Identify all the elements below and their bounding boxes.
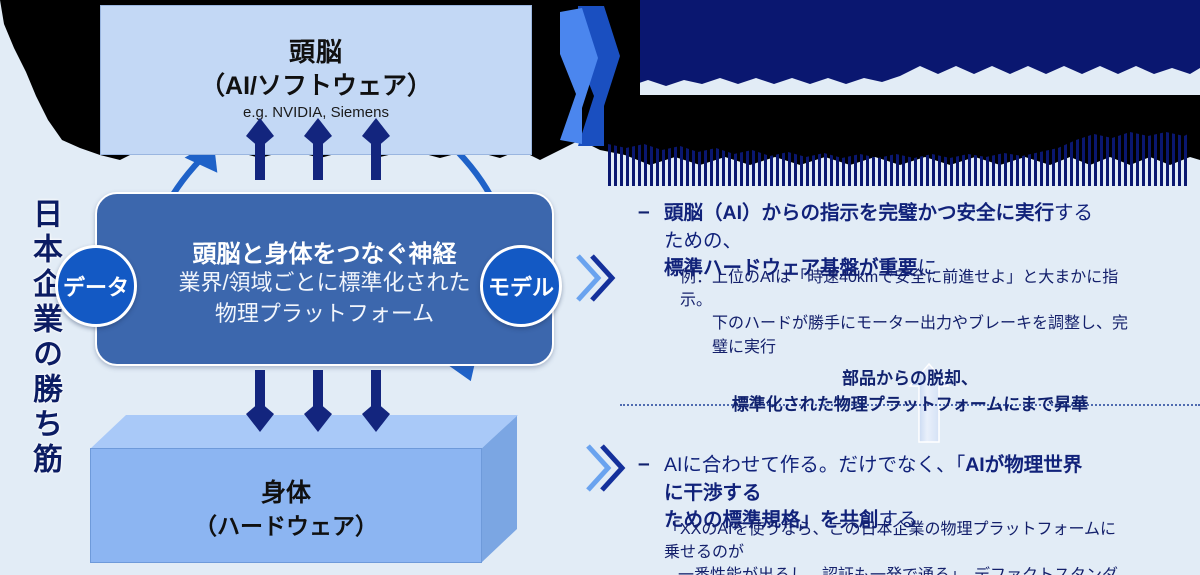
bullet-1-sub-line2: 下のハードが勝手にモーター出力やブレーキを調整し、完璧に実行	[680, 312, 1130, 358]
block-arrow-down-2	[304, 370, 332, 432]
bottom-box-subtitle: （ハードウェア）	[91, 507, 481, 541]
top-box-subtitle: （AI/ソフトウェア）	[101, 66, 531, 102]
bullet-2-lead: AIに合わせて作る。	[664, 454, 838, 476]
mid-box-title: 頭脳と身体をつなぐ神経	[97, 234, 552, 269]
block-arrow-up-2	[304, 118, 332, 180]
bullet-1-bold: 頭脳（AI）からの指示を完璧かつ安全に実行	[664, 202, 1054, 224]
bottom-box-title: 身体	[91, 473, 481, 509]
block-arrow-down-3	[362, 370, 390, 432]
bottom-box-front-face: 身体 （ハードウェア）	[90, 448, 482, 563]
bullet-2-dash: –	[638, 452, 650, 476]
divider-caption-line1: 部品からの脱却、	[842, 369, 978, 388]
bullet-2-sub-line1: 「XXのAIを使うなら、この日本企業の物理プラットフォームに乗せるのが	[664, 518, 1124, 564]
block-arrow-down-1	[246, 370, 274, 432]
left-vertical-label: 日本企業の勝ち筋	[20, 198, 66, 478]
bullet-1-dash: –	[638, 200, 650, 224]
badge-model[interactable]: モデル	[480, 245, 562, 327]
chevron-double-icon-2	[582, 440, 626, 496]
badge-model-label: モデル	[488, 270, 554, 302]
bottom-box-body: 身体 （ハードウェア）	[90, 415, 540, 565]
redaction-stripe-band	[608, 130, 1188, 192]
bullet-2-sub-line2: 一番性能が出るし、認証も一発で通る」、デファクトスタンダード化	[664, 564, 1124, 575]
slide-canvas: 日本企業の勝ち筋 頭脳 （AI/ソフトウェア） e.g. NVIDIA, Sie…	[0, 0, 1200, 575]
bullet-2-mid: だけでなく、「	[838, 454, 965, 476]
badge-data-label: データ	[63, 270, 129, 302]
badge-data[interactable]: データ	[55, 245, 137, 327]
top-box-title: 頭脳	[101, 32, 531, 69]
bullet-1-subtext: 例：上位のAIは「時速40kmで安全に前進せよ」と大まかに指示。 下のハードが勝…	[680, 266, 1130, 359]
block-arrow-up-3	[362, 118, 390, 180]
block-arrow-up-1	[246, 118, 274, 180]
bullet-2-subtext: 「XXのAIを使うなら、この日本企業の物理プラットフォームに乗せるのが 一番性能…	[664, 518, 1124, 575]
divider-caption: 部品からの脱却、 標準化された物理プラットフォームにまで昇華	[620, 366, 1200, 417]
bullet-1-sub-line1: 例：上位のAIは「時速40kmで安全に前進せよ」と大まかに指示。	[680, 266, 1130, 312]
chevron-3d-icon	[556, 2, 620, 150]
divider-caption-line2: 標準化された物理プラットフォームにまで昇華	[732, 395, 1089, 414]
